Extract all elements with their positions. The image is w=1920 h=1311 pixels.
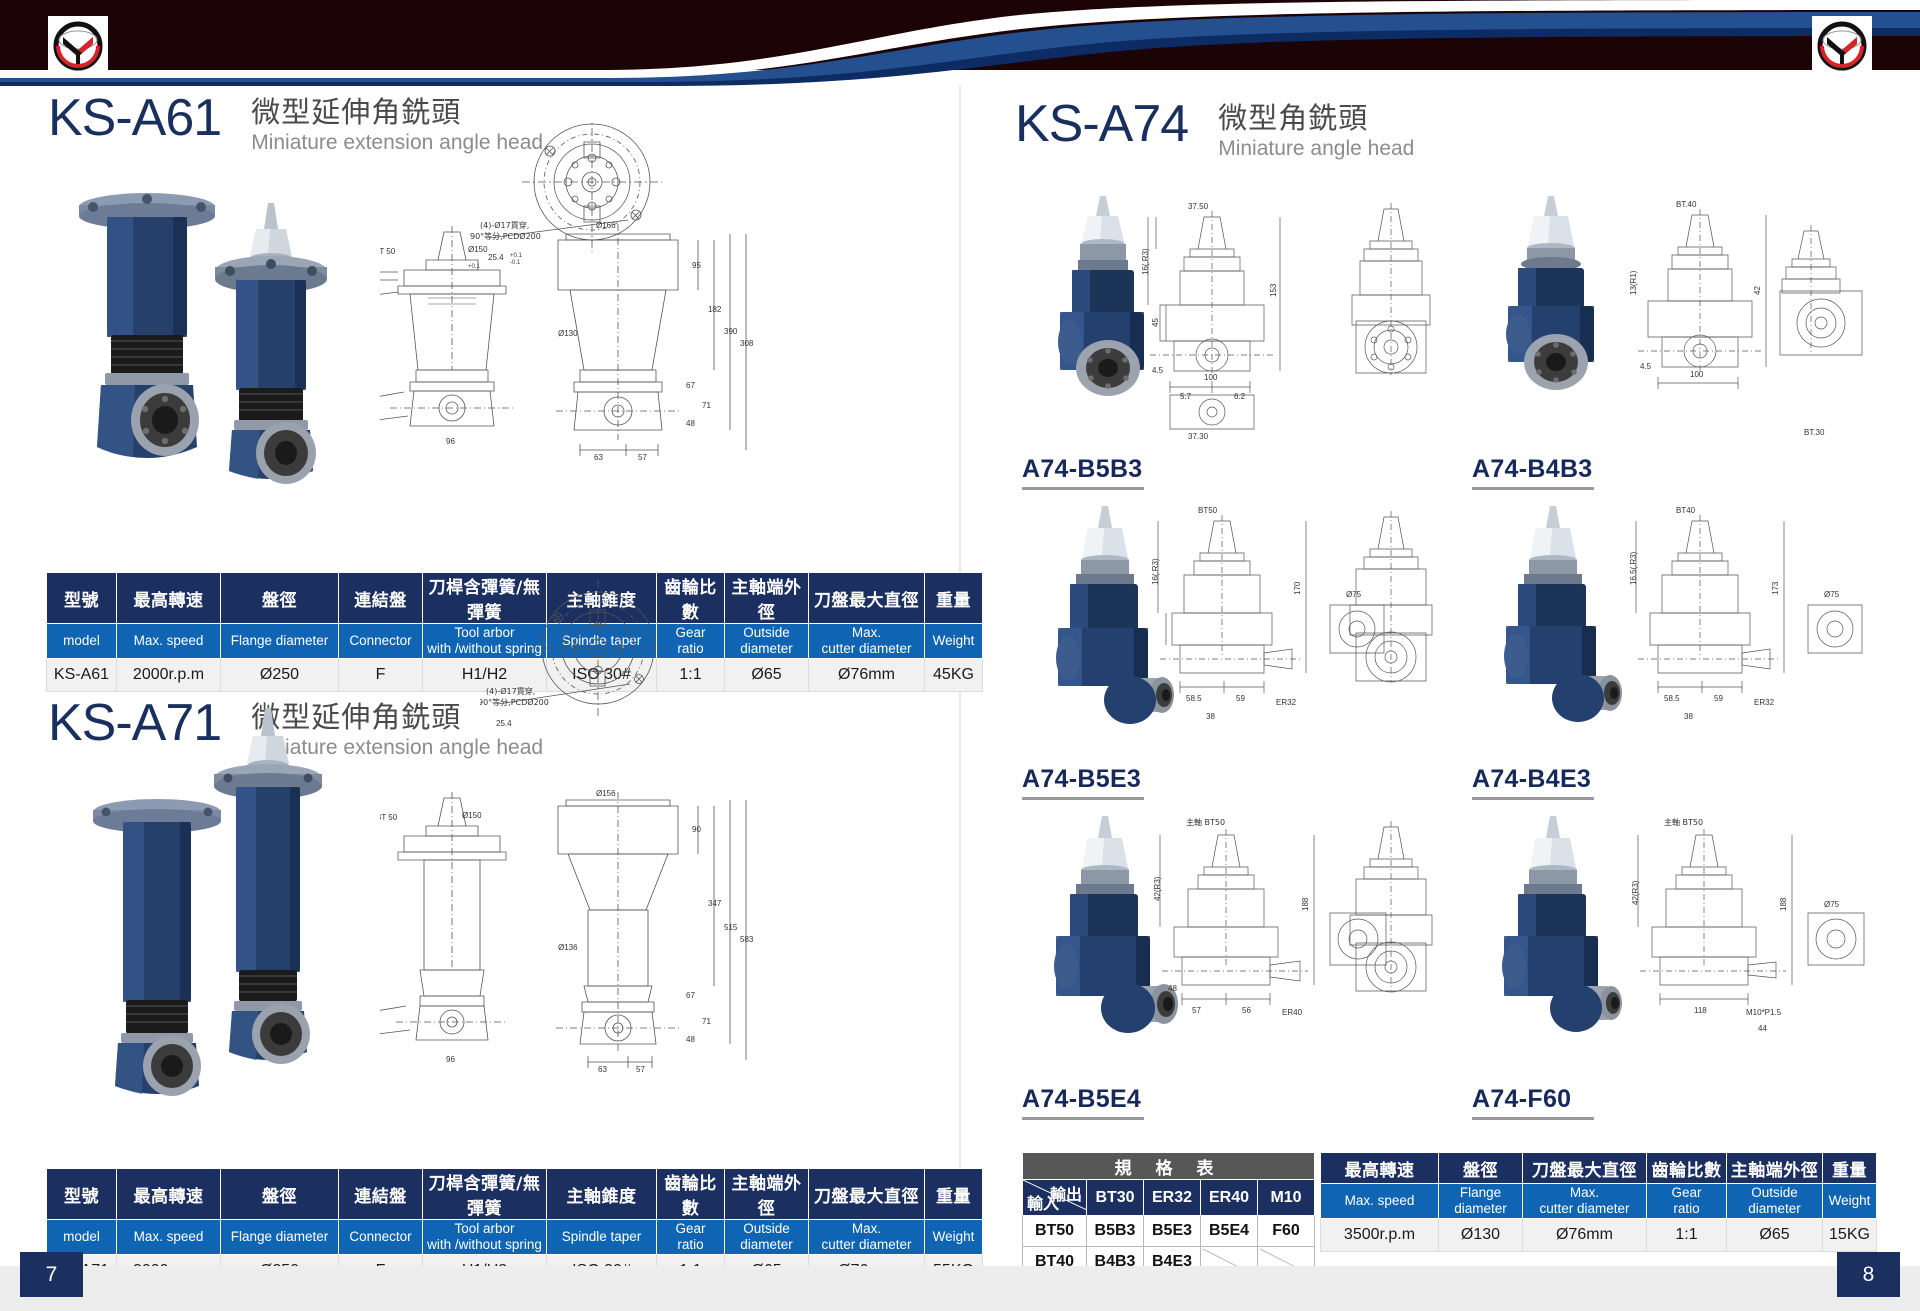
td-gear-ratio: 1:1: [1647, 1219, 1727, 1252]
table-header-row-cn: 最高轉速 盤徑 刀盤最大直徑 齒輪比數 主軸端外徑 重量: [1321, 1153, 1877, 1184]
svg-text:BT50: BT50: [1198, 506, 1218, 515]
svg-text:153: 153: [1269, 283, 1278, 297]
th-cn-flange-diameter: 盤徑: [1439, 1153, 1523, 1184]
svg-text:Ø75: Ø75: [1824, 900, 1840, 909]
svg-text:Ø150: Ø150: [468, 245, 488, 254]
th-cn-weight: 重量: [925, 1169, 983, 1220]
svg-text:42(R3): 42(R3): [1153, 876, 1162, 901]
spec-table-ks-a74: 最高轉速 盤徑 刀盤最大直徑 齒輪比數 主軸端外徑 重量 Max. speed …: [1320, 1152, 1877, 1252]
svg-text:583: 583: [740, 935, 754, 944]
th-en-tool-arbor: Tool arborwith /without spring: [423, 1220, 547, 1255]
label-underline: [1022, 487, 1144, 490]
th-en-connector: Connector: [339, 1220, 423, 1255]
matrix-col-m10: M10: [1258, 1180, 1315, 1216]
svg-text:Ø150: Ø150: [462, 811, 482, 820]
svg-text:59: 59: [1236, 694, 1245, 703]
banner-swoosh-graphic: [0, 0, 1920, 86]
svg-text:170: 170: [1293, 581, 1302, 595]
product-label-text: A74-B5B3: [1022, 455, 1144, 484]
svg-text:173: 173: [1771, 581, 1780, 595]
matrix-title: 規 格 表: [1023, 1153, 1315, 1180]
svg-text:M10*P1.5: M10*P1.5: [1746, 1008, 1782, 1017]
th-cn-flange-diameter: 盤徑: [221, 573, 339, 624]
td-max-speed: 2000r.p.m: [117, 659, 221, 692]
th-en-outside-diameter: Outsidediameter: [725, 1220, 809, 1255]
svg-text:67: 67: [686, 381, 695, 390]
svg-text:主軸 BT50: 主軸 BT50: [1186, 817, 1225, 827]
svg-text:56: 56: [1242, 1006, 1251, 1015]
product-photo-a74-f60: [1478, 810, 1648, 1060]
page-number-right: 8: [1837, 1252, 1900, 1297]
matrix-cell: B5B3: [1087, 1216, 1144, 1247]
th-cn-outside-diameter: 主軸端外徑: [725, 1169, 809, 1220]
svg-text:16(.R3): 16(.R3): [1141, 248, 1150, 275]
svg-text:+0.1: +0.1: [468, 264, 481, 270]
svg-text:100: 100: [1690, 370, 1704, 379]
product-label-a74-f60: A74-F60: [1472, 1085, 1594, 1120]
th-en-connector: Connector: [339, 624, 423, 659]
th-cn-max-speed: 最高轉速: [1321, 1153, 1439, 1184]
th-en-weight: Weight: [1823, 1184, 1877, 1219]
svg-text:4.5: 4.5: [1640, 362, 1652, 371]
matrix-col-er40: ER40: [1201, 1180, 1258, 1216]
svg-text:42(R3): 42(R3): [1631, 880, 1640, 905]
technical-drawing-ks-a71-sections: BT 50 Ø150 刻度螺釘 刻度環 主軸BT 30 Ø156 Ø136: [380, 790, 940, 1090]
product-label-text: A74-B5E3: [1022, 765, 1144, 794]
th-cn-gear-ratio: 齒輪比數: [1647, 1153, 1727, 1184]
svg-text:38: 38: [1206, 712, 1215, 721]
svg-text:96: 96: [446, 437, 455, 446]
catalog-page-spread: KS-A61 微型延伸角銑頭 Miniature extension angle…: [0, 0, 1920, 1311]
svg-text:58.5: 58.5: [1186, 694, 1202, 703]
th-cn-model: 型號: [47, 1169, 117, 1220]
svg-text:16.5(.R3): 16.5(.R3): [1629, 551, 1638, 585]
svg-text:(4)-Ø17貫穿,: (4)-Ø17貫穿,: [486, 686, 535, 696]
table-row: 3500r.p.m Ø130 Ø76mm 1:1 Ø65 15KG: [1321, 1219, 1877, 1252]
product-photo-a74-b4e3: [1478, 500, 1648, 750]
matrix-cell: B5E4: [1201, 1216, 1258, 1247]
th-cn-model: 型號: [47, 573, 117, 624]
svg-text:58.5: 58.5: [1664, 694, 1680, 703]
svg-text:57: 57: [638, 453, 647, 462]
td-flange-diameter: Ø250: [221, 659, 339, 692]
td-weight: 15KG: [1823, 1219, 1877, 1252]
svg-text:25.4: 25.4: [496, 719, 512, 728]
brand-logo-left: [48, 16, 108, 76]
svg-text:6.2: 6.2: [1234, 392, 1246, 401]
th-en-model: model: [47, 624, 117, 659]
svg-text:45: 45: [1151, 318, 1160, 327]
th-cn-max-cutter-diameter: 刀盤最大直徑: [809, 1169, 925, 1220]
svg-text:ER40: ER40: [1282, 1008, 1303, 1017]
svg-text:Ø130: Ø130: [558, 329, 578, 338]
svg-text:ER32: ER32: [1276, 698, 1297, 707]
matrix-corner-header: 輸出 輸入: [1023, 1180, 1087, 1216]
matrix-row-label: BT50: [1023, 1216, 1087, 1247]
label-underline: [1472, 487, 1594, 490]
technical-drawing-a74-b4b3: BT.40 100 13(R1) 42 4.5 BT.30: [1628, 195, 1878, 440]
technical-drawing-a74-b5e4-front: [1330, 815, 1450, 1055]
svg-text:BT 50: BT 50: [380, 247, 396, 256]
svg-text:Ø136: Ø136: [558, 943, 578, 952]
product-label-text: A74-F60: [1472, 1085, 1594, 1114]
svg-text:390: 390: [724, 327, 738, 336]
svg-text:BT40: BT40: [1676, 506, 1696, 515]
brand-logo-right: [1812, 16, 1872, 76]
svg-text:ER32: ER32: [1754, 698, 1775, 707]
svg-text:16(.R3): 16(.R3): [1151, 558, 1160, 585]
svg-text:90°等分,PCDØ200: 90°等分,PCDØ200: [480, 697, 549, 707]
matrix-cell: F60: [1258, 1216, 1315, 1247]
svg-text:347: 347: [708, 899, 722, 908]
th-cn-spindle-taper: 主軸錐度: [547, 1169, 657, 1220]
table-header-row-en: model Max. speed Flange diameter Connect…: [47, 1220, 983, 1255]
product-title-en-ks-a74: Miniature angle head: [1218, 136, 1414, 161]
label-underline: [1022, 797, 1144, 800]
th-en-max-speed: Max. speed: [1321, 1184, 1439, 1219]
footer-bar: [0, 1266, 1920, 1311]
technical-drawing-a74-b4e3: BT40 ER32 173 16.5(.R3) 58.5 59 38 Ø75: [1628, 505, 1878, 745]
th-cn-outside-diameter: 主軸端外徑: [1727, 1153, 1823, 1184]
th-en-flange-diameter: Flange diameter: [221, 1220, 339, 1255]
td-max-cutter-diameter: Ø76mm: [1523, 1219, 1647, 1252]
th-en-flange-diameter: Flange diameter: [221, 624, 339, 659]
svg-text:57: 57: [636, 1065, 645, 1074]
svg-text:67: 67: [686, 991, 695, 1000]
svg-text:BT.30: BT.30: [1804, 428, 1825, 437]
th-cn-max-speed: 最高轉速: [117, 1169, 221, 1220]
product-label-a74-b5e4: A74-B5E4: [1022, 1085, 1144, 1120]
svg-text:37.50: 37.50: [1188, 202, 1209, 211]
product-label-a74-b5e3: A74-B5E3: [1022, 765, 1144, 800]
circular-y-emblem-icon: [52, 20, 104, 72]
th-en-max-speed: Max. speed: [117, 1220, 221, 1255]
svg-text:100: 100: [1204, 373, 1218, 382]
th-cn-gear-ratio: 齒輪比數: [657, 1169, 725, 1220]
th-en-weight: Weight: [925, 1220, 983, 1255]
svg-text:38: 38: [1684, 712, 1693, 721]
svg-text:118: 118: [1694, 1006, 1707, 1015]
th-en-flange-diameter: Flangediameter: [1439, 1184, 1523, 1219]
svg-text:48: 48: [686, 1035, 695, 1044]
table-header-row-cn: 型號 最高轉速 盤徑 連結盤 刀桿含彈簧/無彈簧 主軸錐度 齒輪比數 主軸端外徑…: [47, 1169, 983, 1220]
svg-text:188: 188: [1779, 897, 1788, 911]
label-underline: [1472, 797, 1594, 800]
product-label-text: A74-B4E3: [1472, 765, 1594, 794]
product-code-ks-a74: KS-A74: [1015, 98, 1188, 150]
th-cn-flange-diameter: 盤徑: [221, 1169, 339, 1220]
svg-text:44: 44: [1758, 1024, 1767, 1033]
spec-matrix-table: 規 格 表 輸出 輸入 BT30 ER32 ER40 M10 BT50 B5B3…: [1022, 1152, 1315, 1278]
svg-text:4.5: 4.5: [1152, 366, 1164, 375]
svg-text:主軸 BT50: 主軸 BT50: [1664, 817, 1703, 827]
svg-text:96: 96: [446, 1055, 455, 1064]
td-model: KS-A61: [47, 659, 117, 692]
th-en-max-cutter-diameter: Max.cutter diameter: [1523, 1184, 1647, 1219]
th-cn-connector: 連結盤: [339, 1169, 423, 1220]
label-underline: [1472, 1117, 1594, 1120]
technical-drawing-a74-b5e3-front: [1330, 505, 1450, 745]
svg-text:71: 71: [702, 1017, 711, 1026]
td-flange-diameter: Ø130: [1439, 1219, 1523, 1252]
product-label-text: A74-B5E4: [1022, 1085, 1144, 1114]
th-en-gear-ratio: Gearratio: [1647, 1184, 1727, 1219]
svg-text:37.30: 37.30: [1188, 432, 1209, 440]
label-underline: [1022, 1117, 1144, 1120]
svg-text:90: 90: [692, 825, 701, 834]
svg-text:48: 48: [1168, 984, 1177, 993]
product-photo-a74-b4b3: [1478, 190, 1638, 440]
th-en-spindle-taper: Spindle taper: [547, 1220, 657, 1255]
technical-drawing-ks-a61-sections: BT 50 Ø150 +0.1 刻度螺釘 刻度環 主軸BT 30: [380, 220, 940, 500]
th-en-max-cutter-diameter: Max.cutter diameter: [809, 1220, 925, 1255]
td-connector: F: [339, 659, 423, 692]
product-code-ks-a61: KS-A61: [48, 92, 221, 144]
section-title-ks-a74: KS-A74 微型角銑頭 Miniature angle head: [1015, 98, 1414, 162]
svg-text:63: 63: [594, 453, 603, 462]
svg-text:13(R1): 13(R1): [1629, 270, 1638, 295]
product-title-cn-ks-a74: 微型角銑頭: [1218, 102, 1414, 134]
th-cn-max-cutter-diameter: 刀盤最大直徑: [1523, 1153, 1647, 1184]
svg-text:Ø75: Ø75: [1824, 590, 1840, 599]
td-outside-diameter: Ø65: [1727, 1219, 1823, 1252]
th-en-outside-diameter: Outsidediameter: [1727, 1184, 1823, 1219]
svg-text:182: 182: [708, 305, 722, 314]
matrix-corner-input: 輸入: [1027, 1190, 1059, 1214]
th-cn-weight: 重量: [1823, 1153, 1877, 1184]
product-label-text: A74-B4B3: [1472, 455, 1594, 484]
svg-text:95: 95: [692, 261, 701, 270]
svg-text:188: 188: [1301, 897, 1310, 911]
svg-text:63: 63: [598, 1065, 607, 1074]
product-label-a74-b5b3: A74-B5B3: [1022, 455, 1144, 490]
svg-text:57: 57: [1192, 1006, 1201, 1015]
th-cn-connector: 連結盤: [339, 573, 423, 624]
technical-drawing-a74-b5b3-front: [1330, 195, 1450, 440]
matrix-row-bt50: BT50 B5B3 B5E3 B5E4 F60: [1023, 1216, 1315, 1247]
td-max-speed: 3500r.p.m: [1321, 1219, 1439, 1252]
svg-text:5.7: 5.7: [1180, 392, 1192, 401]
product-photo-ks-a61-front: [182, 195, 367, 485]
svg-text:BT 50: BT 50: [380, 813, 398, 822]
circular-y-emblem-icon: [1816, 20, 1868, 72]
svg-text:308: 308: [740, 339, 754, 348]
svg-text:BT.40: BT.40: [1676, 200, 1697, 209]
svg-text:48: 48: [686, 419, 695, 428]
th-en-gear-ratio: Gearratio: [657, 1220, 725, 1255]
product-label-a74-b4b3: A74-B4B3: [1472, 455, 1594, 490]
svg-text:59: 59: [1714, 694, 1723, 703]
matrix-col-bt30: BT30: [1087, 1180, 1144, 1216]
svg-text:Ø156: Ø156: [596, 790, 616, 798]
technical-drawing-a74-f60: 主軸 BT50 M10*P1.5 188 42(R3) 118 44 Ø75: [1628, 815, 1878, 1055]
th-cn-max-speed: 最高轉速: [117, 573, 221, 624]
page-number-left: 7: [20, 1252, 83, 1297]
product-photo-ks-a71-front: [180, 700, 370, 1120]
svg-text:71: 71: [702, 401, 711, 410]
top-banner: [0, 0, 1920, 86]
matrix-col-er32: ER32: [1144, 1180, 1201, 1216]
product-label-a74-b4e3: A74-B4E3: [1472, 765, 1594, 800]
table-header-row-en: Max. speed Flangediameter Max.cutter dia…: [1321, 1184, 1877, 1219]
svg-text:42: 42: [1753, 286, 1762, 295]
th-en-model: model: [47, 1220, 117, 1255]
th-en-max-speed: Max. speed: [117, 624, 221, 659]
matrix-cell: B5E3: [1144, 1216, 1201, 1247]
svg-text:515: 515: [724, 923, 738, 932]
svg-text:Ø166: Ø166: [596, 221, 616, 230]
th-cn-tool-arbor: 刀桿含彈簧/無彈簧: [423, 1169, 547, 1220]
